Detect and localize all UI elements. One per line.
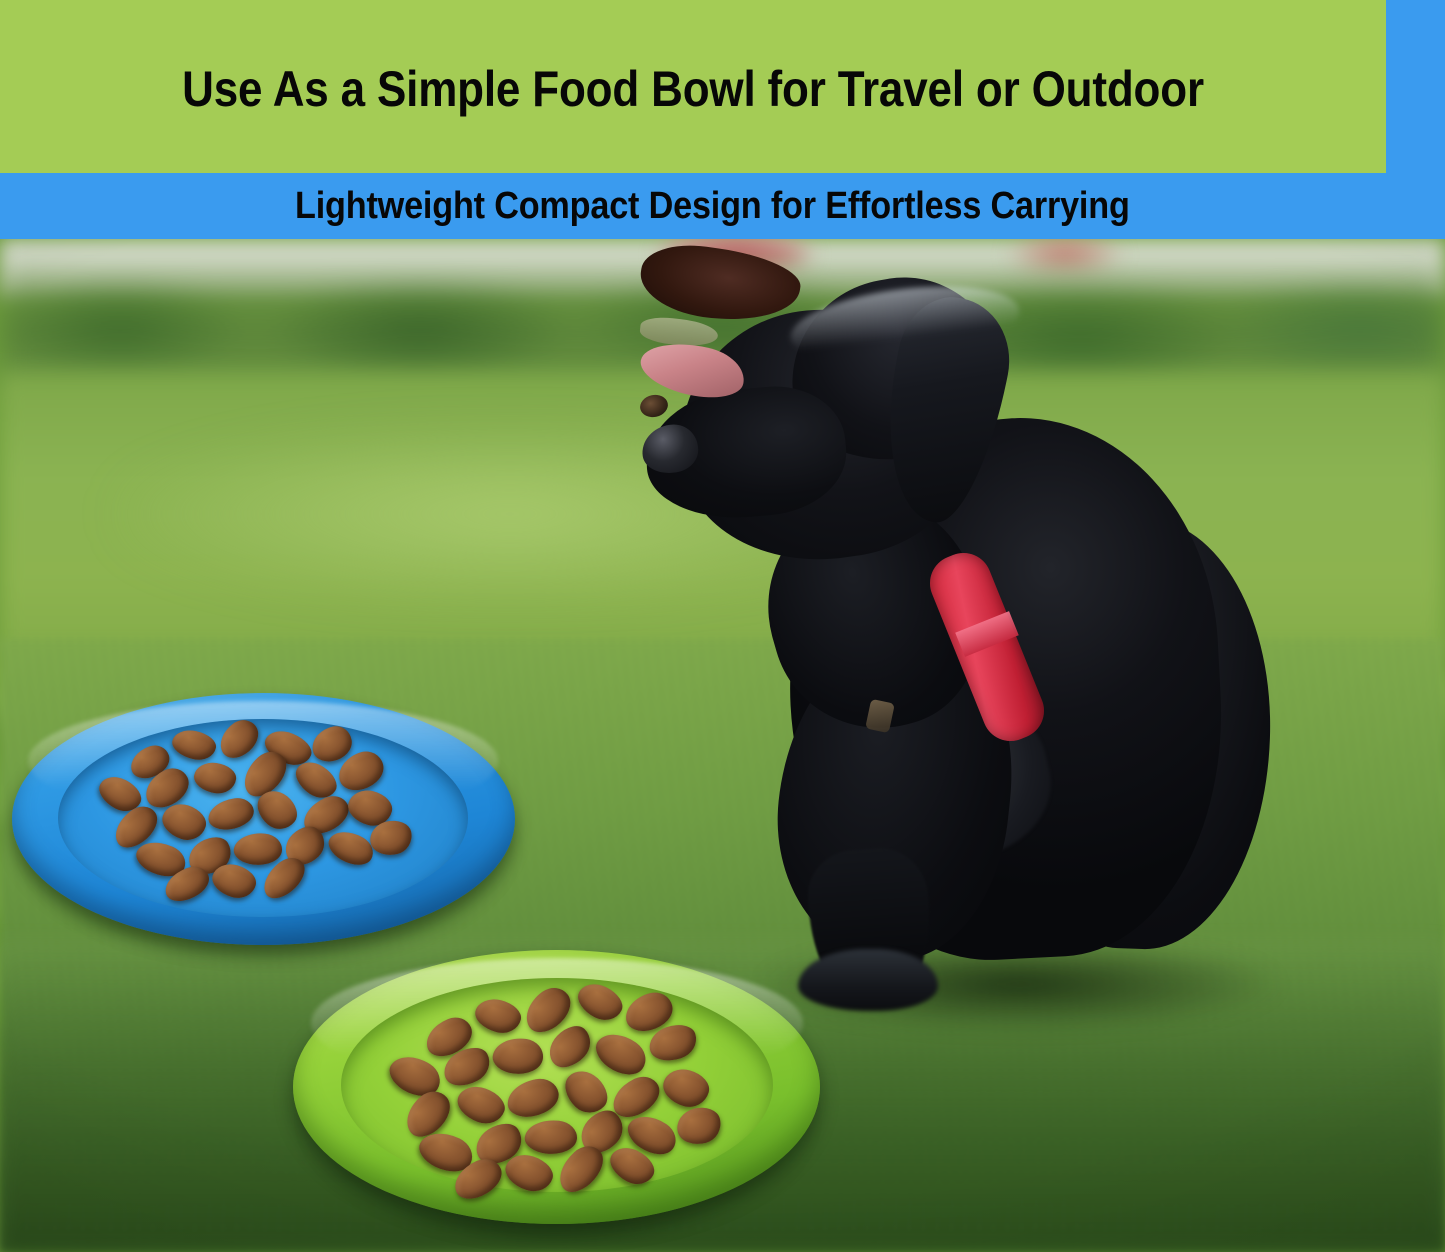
- page-title: Use As a Simple Food Bowl for Travel or …: [83, 0, 1303, 173]
- product-photo: [0, 239, 1445, 1252]
- banner-stack: Use As a Simple Food Bowl for Travel or …: [0, 0, 1445, 239]
- product-infographic: Use As a Simple Food Bowl for Travel or …: [0, 0, 1445, 1252]
- page-subtitle: Lightweight Compact Design for Effortles…: [295, 173, 1321, 239]
- photo-vignette: [0, 239, 1445, 1252]
